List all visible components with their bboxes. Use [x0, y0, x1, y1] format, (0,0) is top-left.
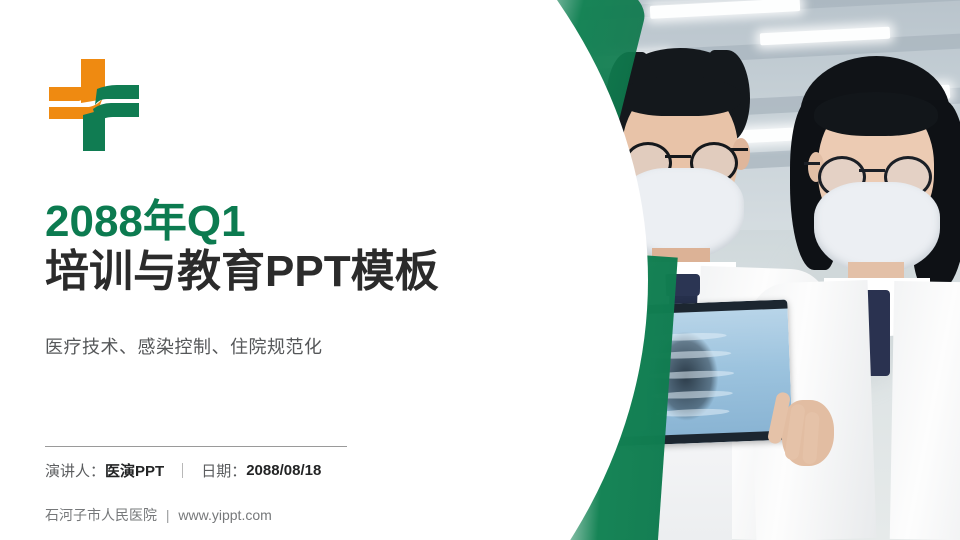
divider-rule [45, 446, 347, 447]
title-line-secondary: 培训与教育PPT模板 [45, 246, 565, 298]
presenter-label: 演讲人： [45, 460, 105, 481]
date-label: 日期： [201, 460, 246, 481]
hospital-cross-logo [45, 57, 143, 153]
footer-organization: 石河子市人民医院 [45, 507, 157, 523]
presenter-value: 医演PPT [105, 460, 164, 481]
page-title: 2088年Q1 培训与教育PPT模板 [45, 198, 565, 297]
presenter-meta-row: 演讲人： 医演PPT 日期： 2088/08/18 [45, 460, 321, 481]
subtitle: 医疗技术、感染控制、住院规范化 [45, 333, 323, 359]
presentation-slide: 2088年Q1 培训与教育PPT模板 医疗技术、感染控制、住院规范化 演讲人： … [0, 0, 960, 540]
title-line-primary: 2088年Q1 [45, 198, 565, 246]
meta-separator [182, 463, 183, 478]
footer-separator: | [166, 507, 170, 523]
footer-website[interactable]: www.yippt.com [178, 507, 271, 523]
slide-content: 2088年Q1 培训与教育PPT模板 医疗技术、感染控制、住院规范化 演讲人： … [45, 0, 565, 540]
footer: 石河子市人民医院 | www.yippt.com [45, 505, 272, 525]
date-value: 2088/08/18 [246, 462, 321, 479]
